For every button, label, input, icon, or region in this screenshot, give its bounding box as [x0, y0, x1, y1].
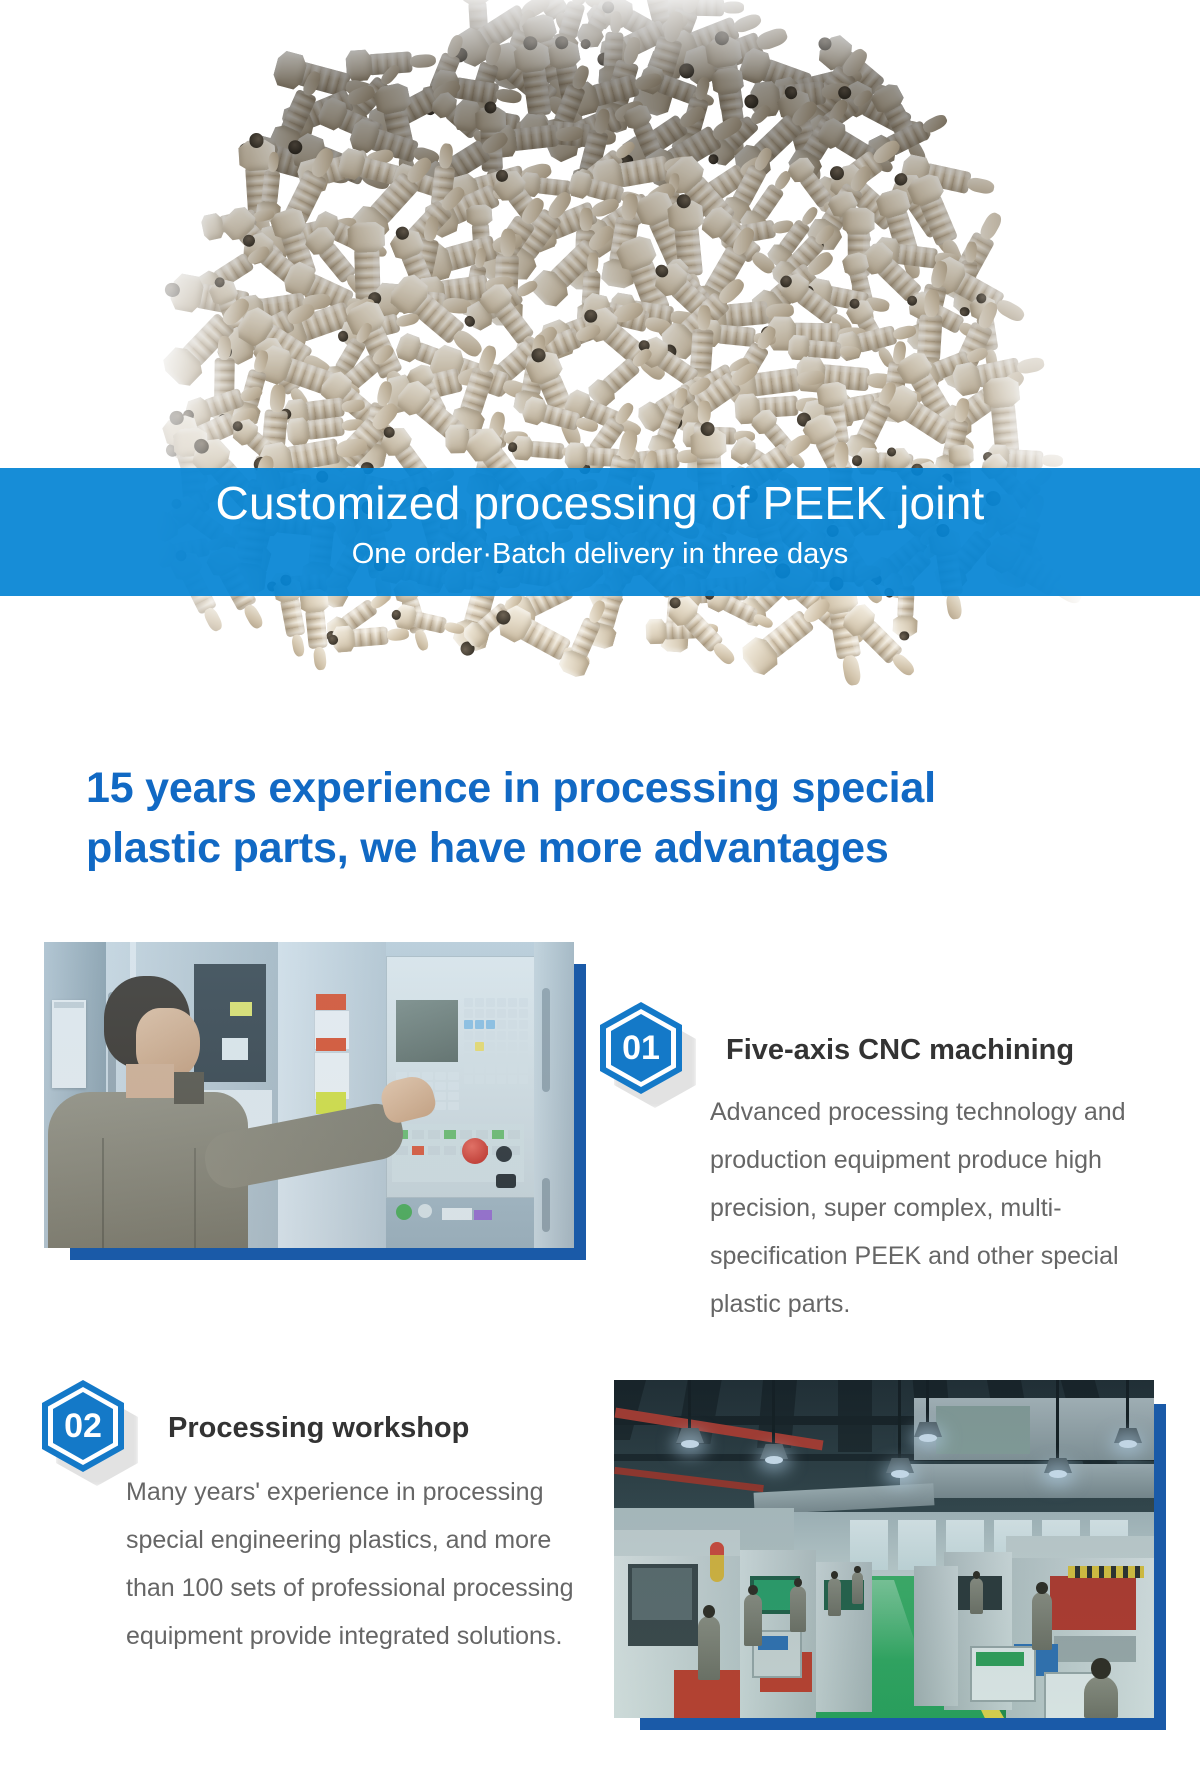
banner-title: Customized processing of PEEK joint: [0, 476, 1200, 530]
cnc-photo-frame: [44, 942, 586, 1260]
advantages-heading-line2: plastic parts, we have more advantages: [86, 818, 1146, 878]
section-01-title: Five-axis CNC machining: [726, 1034, 1074, 1067]
section-02-body: Many years' experience in processing spe…: [126, 1468, 576, 1660]
section-01: 01 Five-axis CNC machining Advanced proc…: [0, 930, 1200, 1320]
frame-accent-bottom: [640, 1718, 1166, 1730]
badge-02: 02: [42, 1380, 124, 1472]
title-banner: Customized processing of PEEK joint One …: [0, 468, 1200, 596]
workshop-photo: [614, 1380, 1154, 1718]
badge-number: 02: [42, 1380, 124, 1472]
banner-subtitle: One order·Batch delivery in three days: [0, 536, 1200, 572]
frame-accent-right: [574, 964, 586, 1260]
cnc-operator-photo: [44, 942, 574, 1248]
badge-number: 01: [600, 1002, 682, 1094]
workshop-photo-frame: [614, 1380, 1166, 1730]
section-01-body: Advanced processing technology and produ…: [710, 1088, 1180, 1328]
section-02-title: Processing workshop: [168, 1412, 469, 1445]
section-02: 02 Processing workshop Many years' exper…: [0, 1360, 1200, 1772]
badge-01: 01: [600, 1002, 682, 1094]
frame-accent-bottom: [70, 1248, 586, 1260]
advantages-heading: 15 years experience in processing specia…: [86, 758, 1146, 878]
advantages-heading-line1: 15 years experience in processing specia…: [86, 758, 1146, 818]
hero-product-image: Customized processing of PEEK joint One …: [0, 0, 1200, 690]
frame-accent-right: [1154, 1404, 1166, 1730]
